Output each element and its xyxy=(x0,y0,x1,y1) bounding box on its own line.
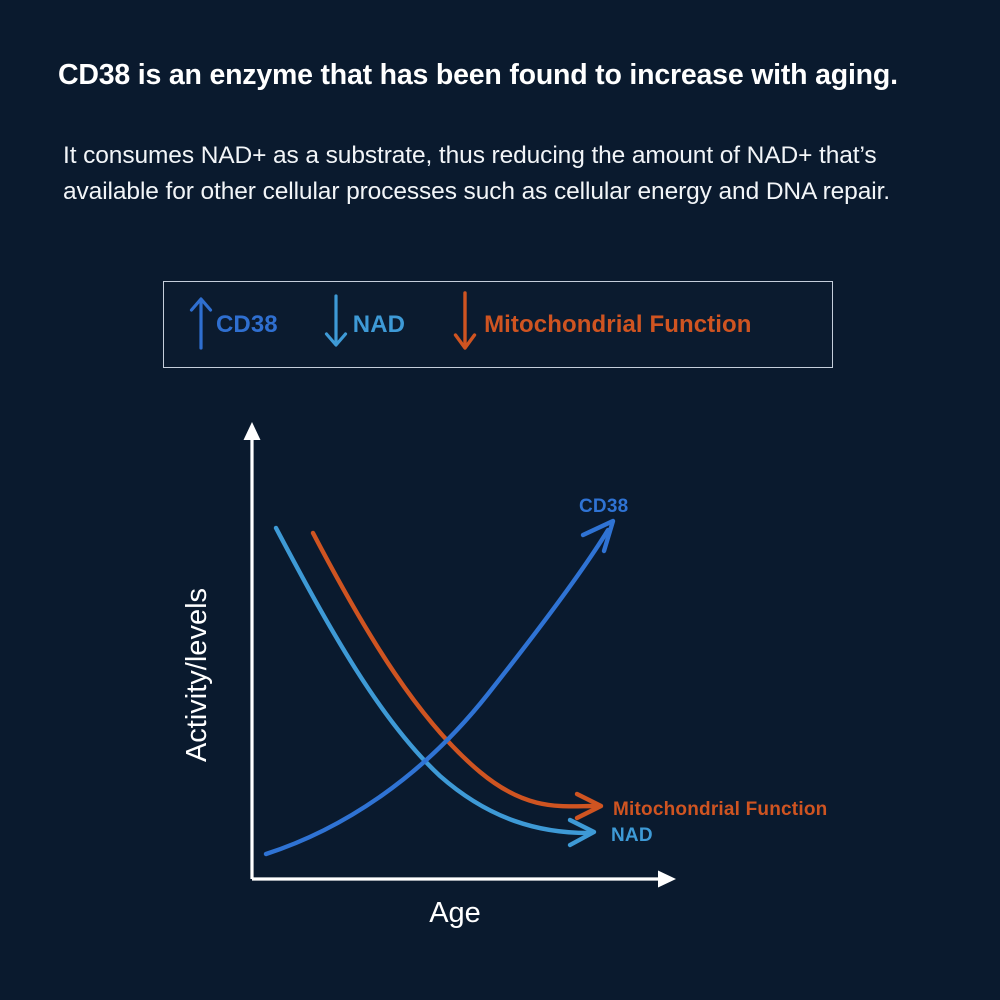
activity-vs-age-chart: CD38 Mitochondrial Function NAD Activity… xyxy=(0,0,1000,1000)
series-label-cd38: CD38 xyxy=(579,496,628,517)
series-line-nad xyxy=(276,528,594,845)
infographic-page: CD38 is an enzyme that has been found to… xyxy=(0,0,1000,1000)
series-label-nad: NAD xyxy=(611,825,653,846)
y-axis-label: Activity/levels xyxy=(181,588,213,762)
x-axis xyxy=(252,871,676,888)
y-axis xyxy=(244,422,261,879)
x-axis-label: Age xyxy=(429,897,481,929)
series-label-mitochondrial-function: Mitochondrial Function xyxy=(613,799,827,820)
series-line-mitochondrial-function xyxy=(313,533,601,818)
